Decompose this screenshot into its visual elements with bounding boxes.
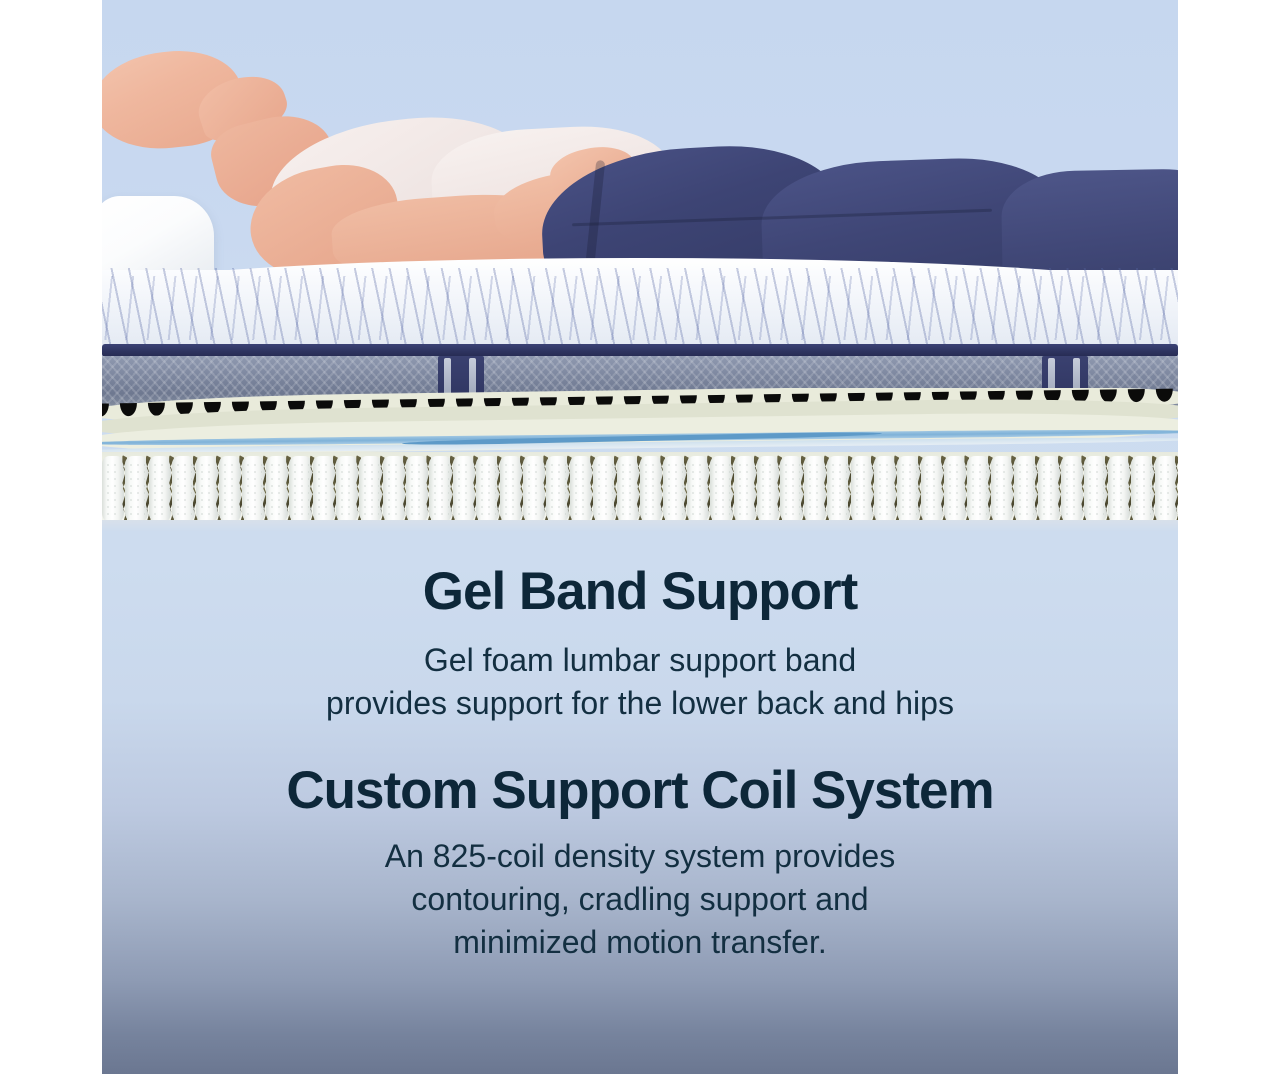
coil-fabric-texture (690, 462, 706, 518)
coil-fabric-texture (737, 462, 753, 518)
pocketed-coil (757, 456, 779, 524)
pocketed-coil (991, 456, 1013, 524)
pocketed-coil (780, 456, 802, 524)
pocketed-coil (406, 456, 428, 524)
pocketed-coil (617, 456, 639, 524)
pocketed-coil (546, 456, 568, 524)
coil-fabric-texture (854, 462, 870, 518)
pocketed-coil (640, 456, 662, 524)
pocketed-coil (172, 456, 194, 524)
coil-fabric-texture (386, 462, 402, 518)
foam-notch (120, 403, 137, 416)
coil-fabric-texture (830, 462, 846, 518)
coil-fabric-texture (526, 462, 542, 518)
coil-fabric-texture (292, 462, 308, 518)
coil-fabric-texture (409, 462, 425, 518)
pocketed-coil (383, 456, 405, 524)
pocketed-coil (874, 456, 896, 524)
coil-fabric-texture (199, 462, 215, 518)
pocketed-coil (921, 456, 943, 524)
feature-block-coil-system: Custom Support Coil System An 825-coil d… (102, 725, 1178, 964)
coil-system-description-line-2: contouring, cradling support and (411, 881, 868, 917)
coil-fabric-texture (269, 462, 285, 518)
coil-fabric-texture (970, 462, 986, 518)
coil-fabric-texture (152, 462, 168, 518)
pocketed-coil (593, 456, 615, 524)
pocketed-coil (313, 456, 335, 524)
quilt-stitch-pattern-secondary (102, 276, 1178, 340)
pocketed-coil (687, 456, 709, 524)
coil-fabric-texture (760, 462, 776, 518)
coil-system-description: An 825-coil density system provides cont… (102, 835, 1178, 964)
foam-notch (1156, 389, 1173, 402)
coil-fabric-texture (1017, 462, 1033, 518)
coil-fabric-texture (713, 462, 729, 518)
foam-notch (1128, 389, 1145, 402)
pocketed-coil (1038, 456, 1060, 524)
coil-system-description-line-1: An 825-coil density system provides (385, 838, 895, 874)
coil-fabric-texture (900, 462, 916, 518)
pocketed-coil (967, 456, 989, 524)
pocketed-coil (476, 456, 498, 524)
pocketed-coil (1155, 456, 1177, 524)
pocketed-coil (851, 456, 873, 524)
pocketed-coil (897, 456, 919, 524)
pocketed-coil (804, 456, 826, 524)
pocketed-coil (734, 456, 756, 524)
feature-text-content: Gel Band Support Gel foam lumbar support… (102, 532, 1178, 1074)
pocketed-coil (570, 456, 592, 524)
coil-fabric-texture (105, 462, 121, 518)
gel-band-description-line-2: provides support for the lower back and … (326, 685, 954, 721)
pocketed-coil (710, 456, 732, 524)
coil-fabric-texture (316, 462, 332, 518)
coil-fabric-texture (994, 462, 1010, 518)
coil-fabric-texture (643, 462, 659, 518)
pocketed-coil (125, 456, 147, 524)
feature-block-gel-band: Gel Band Support Gel foam lumbar support… (102, 532, 1178, 725)
coil-fabric-texture (222, 462, 238, 518)
coil-fabric-texture (1041, 462, 1057, 518)
pocketed-coil (523, 456, 545, 524)
foam-notch (148, 403, 165, 416)
coil-fabric-texture (1087, 462, 1103, 518)
coil-fabric-texture (503, 462, 519, 518)
pocketed-coil (1061, 456, 1083, 524)
coil-fabric-texture (549, 462, 565, 518)
pocketed-coil (359, 456, 381, 524)
coil-fabric-texture (362, 462, 378, 518)
coil-fabric-texture (620, 462, 636, 518)
mattress-photo (102, 0, 1178, 532)
coil-fabric-texture (877, 462, 893, 518)
coil-base-layer (102, 520, 1178, 532)
coil-fabric-texture (479, 462, 495, 518)
coil-fabric-texture (666, 462, 682, 518)
coil-fabric-texture (596, 462, 612, 518)
coil-fabric-texture (339, 462, 355, 518)
pocketed-coil (944, 456, 966, 524)
feature-panel: Gel Band Support Gel foam lumbar support… (102, 0, 1178, 1074)
pocketed-coil (1131, 456, 1153, 524)
pocketed-coil (827, 456, 849, 524)
coil-fabric-texture (1134, 462, 1150, 518)
gel-band-description-line-1: Gel foam lumbar support band (424, 642, 856, 678)
pocketed-coil (663, 456, 685, 524)
coil-fabric-texture (783, 462, 799, 518)
pocketed-coil (1014, 456, 1036, 524)
pocketed-coil (266, 456, 288, 524)
pocketed-coil (336, 456, 358, 524)
pocketed-coil (453, 456, 475, 524)
gel-band-heading: Gel Band Support (102, 564, 1178, 619)
coil-fabric-texture (128, 462, 144, 518)
coil-fabric-texture (245, 462, 261, 518)
pocketed-coil-row (102, 456, 1178, 526)
coil-fabric-texture (456, 462, 472, 518)
pocketed-coil (1084, 456, 1106, 524)
coil-system-description-line-3: minimized motion transfer. (453, 924, 826, 960)
gel-band-description: Gel foam lumbar support band provides su… (102, 639, 1178, 725)
coil-fabric-texture (1111, 462, 1127, 518)
foam-notch (102, 403, 109, 416)
pocketed-coil (196, 456, 218, 524)
pocketed-coil (149, 456, 171, 524)
pocketed-coil (500, 456, 522, 524)
pocketed-coil (289, 456, 311, 524)
coil-fabric-texture (432, 462, 448, 518)
coil-fabric-texture (1064, 462, 1080, 518)
coil-fabric-texture (924, 462, 940, 518)
pocketed-coil (219, 456, 241, 524)
coil-fabric-texture (947, 462, 963, 518)
coil-fabric-texture (175, 462, 191, 518)
pocketed-coil (102, 456, 124, 524)
pocketed-coil (242, 456, 264, 524)
coil-fabric-texture (807, 462, 823, 518)
pocketed-coil (429, 456, 451, 524)
coil-fabric-texture (573, 462, 589, 518)
pocketed-coil (1108, 456, 1130, 524)
coil-system-heading: Custom Support Coil System (102, 763, 1178, 818)
coil-fabric-texture (1158, 462, 1174, 518)
